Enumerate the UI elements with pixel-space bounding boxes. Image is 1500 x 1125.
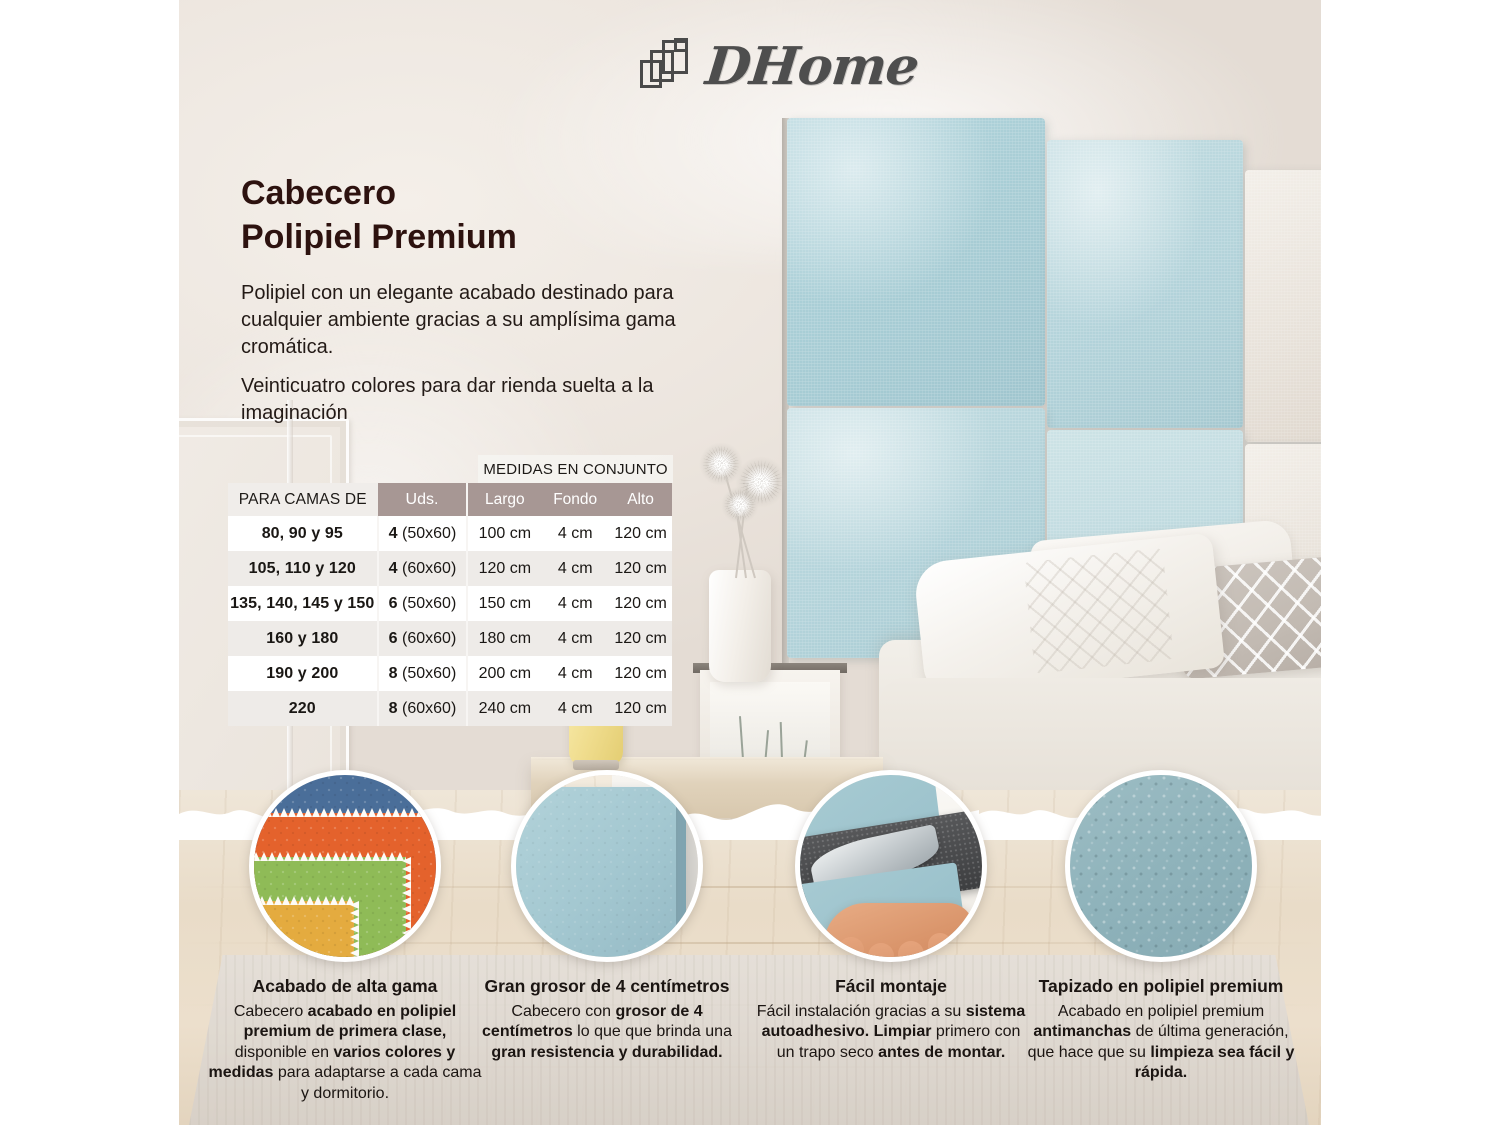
table-row: 160 y 1806 (60x60)180 cm4 cm120 cm (228, 621, 672, 656)
cell-beds: 190 y 200 (228, 656, 378, 691)
title-line-1: Cabecero (241, 172, 721, 216)
cell-height: 120 cm (609, 551, 672, 586)
brand-logo[interactable]: DHome (640, 36, 918, 97)
cell-depth: 4 cm (541, 691, 609, 726)
headboard-panel-top-right (1245, 170, 1321, 442)
cell-height: 120 cm (609, 621, 672, 656)
table-row: 105, 110 y 1204 (60x60)120 cm4 cm120 cm (228, 551, 672, 586)
panel-highlight (1047, 140, 1243, 428)
headboard-panel-top-middle (1047, 140, 1243, 428)
specs-table: PARA CAMAS DE Uds. Largo Fondo Alto 80, … (228, 483, 673, 726)
table-row: 135, 140, 145 y 1506 (50x60)150 cm4 cm12… (228, 586, 672, 621)
cell-units: 4 (60x60) (378, 551, 468, 586)
swatch-amber (249, 901, 354, 962)
feature-body: Cabecero con grosor de 4 centímetros lo … (468, 1002, 746, 1063)
hand-icon (824, 903, 974, 962)
feature-body: Fácil instalación gracias a su sistema a… (752, 1002, 1030, 1063)
cell-units: 8 (50x60) (378, 656, 468, 691)
size-specification-table: MEDIDAS EN CONJUNTO PARA CAMAS DE Uds. L… (228, 455, 673, 726)
cell-depth: 4 cm (541, 621, 609, 656)
thick-panel-icon (511, 770, 703, 962)
cell-length: 150 cm (467, 586, 541, 621)
column-header-depth: Fondo (541, 483, 609, 516)
cell-beds: 220 (228, 691, 378, 726)
brand-name: DHome (703, 36, 921, 97)
cell-depth: 4 cm (541, 551, 609, 586)
cell-depth: 4 cm (541, 516, 609, 551)
fabric-swatches-icon (249, 770, 441, 962)
panel-highlight (787, 118, 1045, 406)
column-header-length: Largo (467, 483, 541, 516)
column-header-units: Uds. (378, 483, 468, 516)
feature-title: Tapizado en polipiel premium (1022, 976, 1300, 997)
cell-height: 120 cm (609, 691, 672, 726)
yellow-vase-base (573, 760, 619, 770)
cell-beds: 80, 90 y 95 (228, 516, 378, 551)
cell-length: 200 cm (467, 656, 541, 691)
page-title: Cabecero Polipiel Premium (241, 172, 721, 259)
table-header-row: PARA CAMAS DE Uds. Largo Fondo Alto (228, 483, 672, 516)
feature-body: Cabecero acabado en polipiel premium de … (206, 1002, 484, 1104)
headboard-panel-top-left (787, 118, 1045, 406)
description-paragraph-2: Veinticuatro colores para dar rienda sue… (241, 373, 681, 427)
cell-length: 120 cm (467, 551, 541, 586)
cell-units: 4 (50x60) (378, 516, 468, 551)
cell-depth: 4 cm (541, 656, 609, 691)
feature-block-3: Fácil montaje Fácil instalación gracias … (752, 770, 1030, 1063)
dandelion-puff-icon (721, 486, 759, 524)
specs-table-body: 80, 90 y 954 (50x60)100 cm4 cm120 cm105,… (228, 516, 672, 726)
overlapping-squares-icon (640, 38, 694, 96)
cell-length: 240 cm (467, 691, 541, 726)
table-row: 190 y 2008 (50x60)200 cm4 cm120 cm (228, 656, 672, 691)
description-paragraph-1: Polipiel con un elegante acabado destina… (241, 280, 681, 360)
panel-texture (1245, 170, 1321, 442)
cell-length: 180 cm (467, 621, 541, 656)
feature-title: Acabado de alta gama (206, 976, 484, 997)
cell-height: 120 cm (609, 586, 672, 621)
feature-block-2: Gran grosor de 4 centímetros Cabecero co… (468, 770, 746, 1063)
table-supertitle: MEDIDAS EN CONJUNTO (478, 455, 673, 483)
feature-block-4: Tapizado en polipiel premium Acabado en … (1022, 770, 1300, 1084)
cell-beds: 105, 110 y 120 (228, 551, 378, 586)
cell-depth: 4 cm (541, 586, 609, 621)
cell-beds: 135, 140, 145 y 150 (228, 586, 378, 621)
infographic-canvas: DHome Cabecero Polipiel Premium Polipiel… (0, 0, 1500, 1125)
column-header-beds: PARA CAMAS DE (228, 483, 378, 516)
feature-block-1: Acabado de alta gama Cabecero acabado en… (206, 770, 484, 1104)
cell-units: 6 (50x60) (378, 586, 468, 621)
cell-beds: 160 y 180 (228, 621, 378, 656)
column-header-height: Alto (609, 483, 672, 516)
product-description: Polipiel con un elegante acabado destina… (241, 280, 681, 427)
table-row: 80, 90 y 954 (50x60)100 cm4 cm120 cm (228, 516, 672, 551)
title-line-2: Polipiel Premium (241, 216, 721, 260)
cell-units: 8 (60x60) (378, 691, 468, 726)
cell-height: 120 cm (609, 656, 672, 691)
self-adhesive-hand-icon (795, 770, 987, 962)
white-vase (709, 570, 771, 682)
cell-units: 6 (60x60) (378, 621, 468, 656)
table-row: 2208 (60x60)240 cm4 cm120 cm (228, 691, 672, 726)
cell-height: 120 cm (609, 516, 672, 551)
feature-title: Gran grosor de 4 centímetros (468, 976, 746, 997)
feature-body: Acabado en polipiel premium antimanchas … (1022, 1002, 1300, 1084)
leather-texture-icon (1065, 770, 1257, 962)
cell-length: 100 cm (467, 516, 541, 551)
feature-title: Fácil montaje (752, 976, 1030, 997)
